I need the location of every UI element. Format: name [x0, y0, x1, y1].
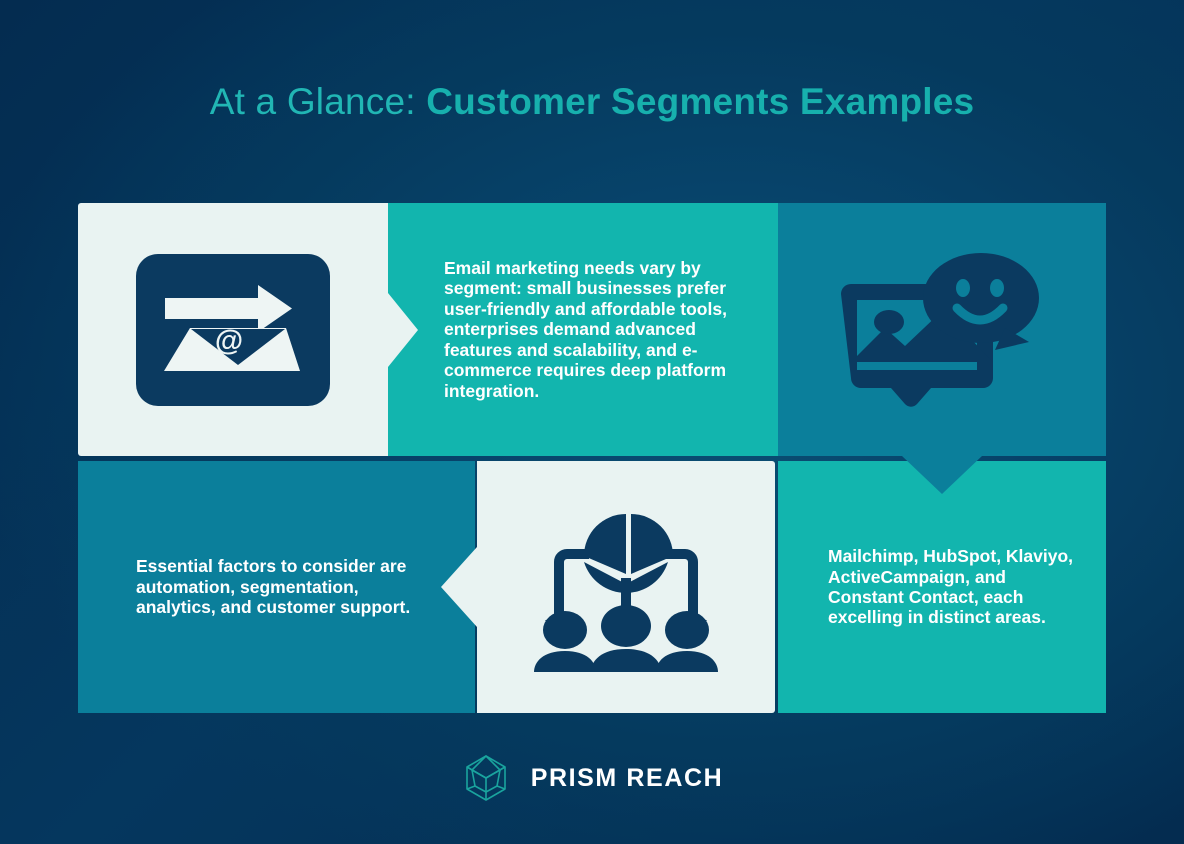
panel-tools-text: Mailchimp, HubSpot, Klaviyo, ActiveCampa… [778, 461, 1106, 713]
panel-people-icon [477, 461, 775, 713]
footer: PRISM REACH [0, 753, 1184, 803]
panel-email-icon: @ [78, 203, 388, 456]
panel-factors-text: Essential factors to consider are automa… [78, 461, 475, 713]
tools-text-body: Mailchimp, HubSpot, Klaviyo, ActiveCampa… [778, 546, 1106, 628]
page-title-lead: At a Glance: [210, 81, 427, 122]
svg-text:@: @ [215, 325, 243, 357]
brand-name: PRISM REACH [531, 764, 724, 793]
header: At a Glance: Customer Segments Examples [0, 82, 1184, 123]
arrow-down-notch-icon [902, 456, 982, 494]
email-text-body: Email marketing needs vary by segment: s… [388, 258, 778, 401]
arrow-left-notch-icon [441, 547, 477, 627]
arrow-right-notch-icon [388, 293, 418, 367]
page-title: At a Glance: Customer Segments Examples [0, 82, 1184, 123]
prism-hexagon-logo-icon [461, 753, 511, 803]
email-send-icon: @ [136, 254, 330, 406]
factors-text-body: Essential factors to consider are automa… [78, 556, 475, 617]
panel-email-text: Email marketing needs vary by segment: s… [388, 203, 778, 456]
image-chat-smiley-icon [829, 250, 1055, 410]
panel-photo-icon [778, 203, 1106, 456]
segmentation-people-icon [531, 502, 721, 672]
panel-grid: @ Email marketing needs vary by segment:… [78, 203, 1106, 713]
page-title-emphasis: Customer Segments Examples [426, 81, 974, 122]
